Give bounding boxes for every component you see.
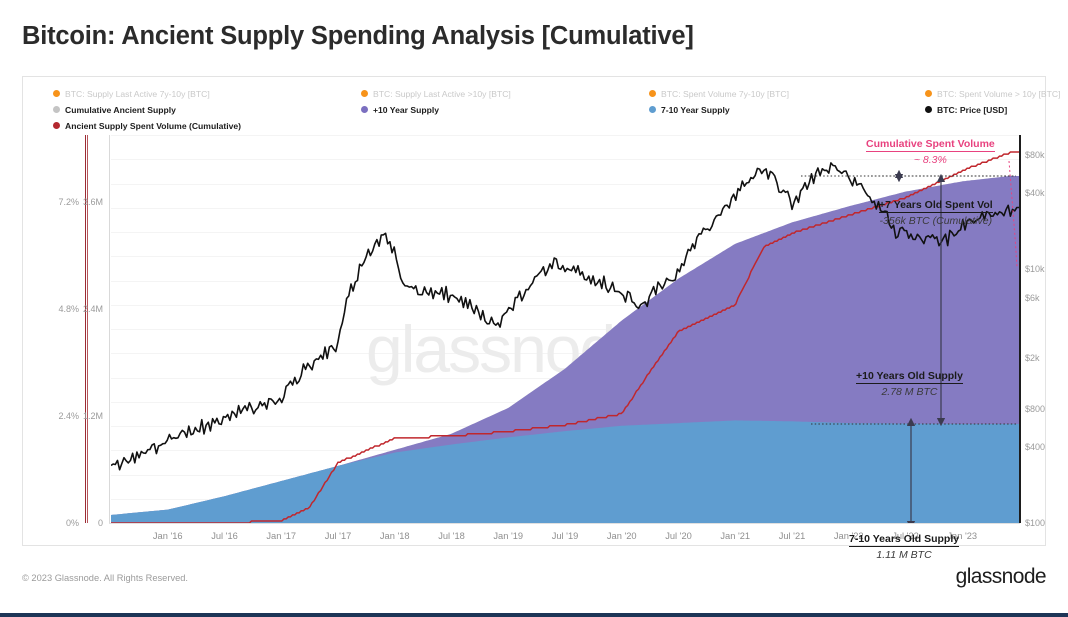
btc-tick: 1.2M (59, 411, 103, 421)
copyright-text: © 2023 Glassnode. All Rights Reserved. (22, 573, 188, 583)
legend-swatch-icon (649, 106, 656, 113)
legend-swatch-icon (925, 106, 932, 113)
chart-page: Bitcoin: Ancient Supply Spending Analysi… (0, 0, 1068, 617)
annotation-value: ~ 8.3% (866, 154, 995, 166)
legend-item[interactable]: BTC: Spent Volume 7y-10y [BTC] (649, 87, 789, 100)
x-axis-tick: Jan '16 (140, 531, 196, 541)
legend-item-label: Cumulative Ancient Supply (65, 105, 176, 115)
chart-card: BTC: Supply Last Active 7y-10y [BTC]Cumu… (22, 76, 1046, 546)
annotation-title: 7-10 Years Old Supply (849, 533, 959, 547)
annotation-cumulative-spent-volume: Cumulative Spent Volume~ 8.3% (866, 134, 995, 166)
x-axis-tick: Jul '17 (310, 531, 366, 541)
legend-swatch-icon (53, 90, 60, 97)
percent-axis-line-2 (87, 135, 88, 523)
legend-item[interactable]: Cumulative Ancient Supply (53, 103, 241, 116)
annotation-title: +10 Years Old Supply (856, 370, 963, 384)
legend-swatch-icon (361, 90, 368, 97)
legend-item-label: BTC: Spent Volume 7y-10y [BTC] (661, 89, 789, 99)
x-axis-tick: Jul '20 (651, 531, 707, 541)
x-axis-tick: Jul '21 (764, 531, 820, 541)
annotation-title: +7 Years Old Spent Vol (879, 199, 993, 213)
plot-area: glassnode (111, 135, 1019, 523)
price-tick: $2k (1025, 353, 1068, 363)
legend-swatch-icon (53, 122, 60, 129)
legend-swatch-icon (361, 106, 368, 113)
legend-item-label: BTC: Supply Last Active 7y-10y [BTC] (65, 89, 210, 99)
legend-item-label: BTC: Price [USD] (937, 105, 1007, 115)
percent-axis-line (85, 135, 86, 523)
btc-tick: 2.4M (59, 304, 103, 314)
chart-svg (111, 135, 1019, 523)
annotation-seven-to-ten-years-old-supply: 7-10 Years Old Supply1.11 M BTC (849, 529, 959, 561)
annotation-value: 2.78 M BTC (856, 386, 963, 398)
legend-item[interactable]: BTC: Supply Last Active >10y [BTC] (361, 87, 511, 100)
page-title: Bitcoin: Ancient Supply Spending Analysi… (22, 22, 694, 51)
legend-item-label: 7-10 Year Supply (661, 105, 730, 115)
x-axis-tick: Jul '18 (424, 531, 480, 541)
x-axis-tick: Jan '17 (253, 531, 309, 541)
legend-column-0: BTC: Supply Last Active 7y-10y [BTC]Cumu… (53, 87, 241, 135)
x-axis-tick: Jan '18 (367, 531, 423, 541)
price-tick: $400 (1025, 442, 1068, 452)
legend-item-label: +10 Year Supply (373, 105, 439, 115)
legend-item[interactable]: Ancient Supply Spent Volume (Cumulative) (53, 119, 241, 132)
price-tick: $100 (1025, 518, 1068, 528)
price-tick: $10k (1025, 264, 1068, 274)
x-axis-tick: Jul '16 (197, 531, 253, 541)
legend-item-label: BTC: Supply Last Active >10y [BTC] (373, 89, 511, 99)
x-axis-tick: Jan '20 (594, 531, 650, 541)
price-tick: $6k (1025, 293, 1068, 303)
btc-tick: 3.6M (59, 197, 103, 207)
legend-swatch-icon (649, 90, 656, 97)
legend-item[interactable]: BTC: Price [USD] (925, 103, 1060, 116)
annotation-seven-years-old-spent-vol: +7 Years Old Spent Vol-356k BTC (Cumulat… (879, 195, 993, 227)
glassnode-logo: glassnode (956, 565, 1046, 589)
legend-item-label: BTC: Spent Volume > 10y [BTC] (937, 89, 1060, 99)
legend-item-label: Ancient Supply Spent Volume (Cumulative) (65, 121, 241, 131)
price-tick: $800 (1025, 404, 1068, 414)
price-tick: $40k (1025, 188, 1068, 198)
annotation-ten-years-old-supply: +10 Years Old Supply2.78 M BTC (856, 366, 963, 398)
legend-column-3: BTC: Spent Volume > 10y [BTC]BTC: Price … (925, 87, 1060, 119)
x-axis-tick: Jan '19 (480, 531, 536, 541)
annotation-value: 1.11 M BTC (849, 549, 959, 561)
legend-item[interactable]: BTC: Spent Volume > 10y [BTC] (925, 87, 1060, 100)
legend-column-1: BTC: Supply Last Active >10y [BTC]+10 Ye… (361, 87, 511, 119)
x-axis-tick: Jul '19 (537, 531, 593, 541)
legend-item[interactable]: +10 Year Supply (361, 103, 511, 116)
annotation-title: Cumulative Spent Volume (866, 138, 995, 152)
btc-axis-line (109, 135, 110, 523)
price-tick: $80k (1025, 150, 1068, 160)
x-axis-line (109, 523, 1020, 524)
price-axis-line (1019, 135, 1021, 523)
legend-item[interactable]: 7-10 Year Supply (649, 103, 789, 116)
legend-swatch-icon (53, 106, 60, 113)
legend-swatch-icon (925, 90, 932, 97)
legend-column-2: BTC: Spent Volume 7y-10y [BTC]7-10 Year … (649, 87, 789, 119)
x-axis-tick: Jan '21 (707, 531, 763, 541)
btc-tick: 0 (59, 518, 103, 528)
legend-item[interactable]: BTC: Supply Last Active 7y-10y [BTC] (53, 87, 241, 100)
footer-rule (0, 613, 1068, 617)
area-7-10-year-supply (111, 420, 1019, 523)
chart-legend: BTC: Supply Last Active 7y-10y [BTC]Cumu… (53, 87, 1033, 131)
annotation-value: -356k BTC (Cumulative) (879, 215, 993, 227)
